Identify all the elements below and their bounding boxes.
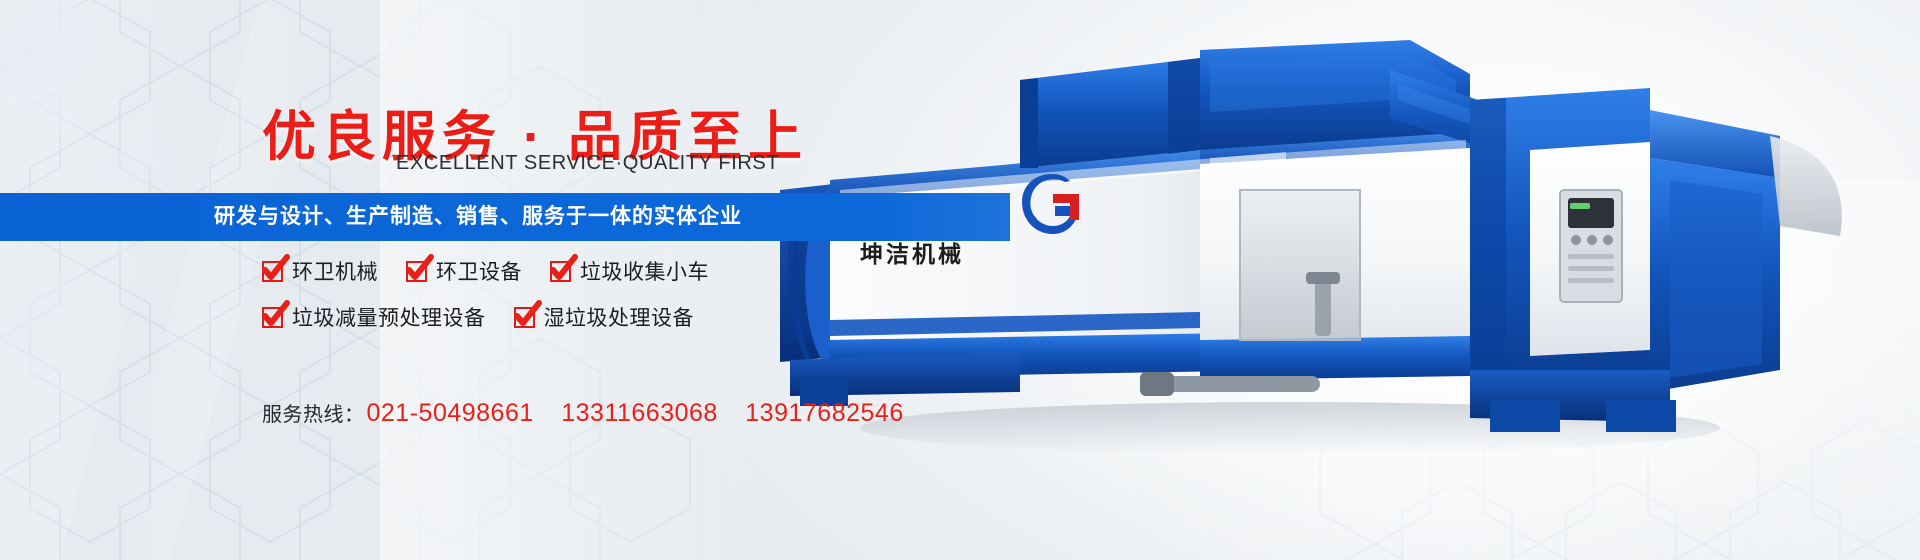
feature-item: 垃圾减量预处理设备 xyxy=(262,302,486,332)
check-icon xyxy=(550,261,571,282)
check-icon xyxy=(514,307,535,328)
check-icon xyxy=(262,307,283,328)
hotline: 服务热线： 021-50498661 13311663068 139176825… xyxy=(262,398,924,428)
subheadline-english: EXCELLENT SERVICE·QUALITY FIRST xyxy=(396,152,779,175)
company-logo-icon xyxy=(1013,168,1087,242)
feature-row: 环卫机械 环卫设备 垃圾收集小车 xyxy=(262,256,882,286)
feature-label: 环卫机械 xyxy=(292,256,378,286)
check-icon xyxy=(406,261,427,282)
feature-item: 环卫设备 xyxy=(406,256,522,286)
feature-item: 垃圾收集小车 xyxy=(550,256,709,286)
tagline-text: 研发与设计、生产制造、销售、服务于一体的实体企业 xyxy=(214,193,742,241)
feature-row: 垃圾减量预处理设备 湿垃圾处理设备 xyxy=(262,302,882,332)
feature-label: 湿垃圾处理设备 xyxy=(544,302,695,332)
product-branding-layer: 坤洁机械 xyxy=(770,40,1900,460)
hotline-number[interactable]: 13917682546 xyxy=(745,399,903,427)
feature-label: 环卫设备 xyxy=(436,256,522,286)
hotline-numbers: 021-50498661 13311663068 13917682546 xyxy=(367,399,924,428)
hotline-number[interactable]: 13311663068 xyxy=(561,399,718,427)
feature-list: 环卫机械 环卫设备 垃圾收集小车 xyxy=(262,256,882,348)
feature-item: 湿垃圾处理设备 xyxy=(514,302,695,332)
hotline-number[interactable]: 021-50498661 xyxy=(367,399,534,427)
check-icon xyxy=(262,261,283,282)
hotline-label: 服务热线： xyxy=(262,398,365,427)
feature-label: 垃圾收集小车 xyxy=(580,256,709,286)
feature-label: 垃圾减量预处理设备 xyxy=(292,302,486,332)
feature-item: 环卫机械 xyxy=(262,256,378,286)
copy-block: 优良服务 · 品质至上 EXCELLENT SERVICE·QUALITY FI… xyxy=(0,0,900,560)
promo-banner: 坤洁机械 优良服务 · 品质至上 EXCELLENT SERVICE·QUALI… xyxy=(0,0,1920,560)
tagline-band: 研发与设计、生产制造、销售、服务于一体的实体企业 xyxy=(0,193,1010,241)
